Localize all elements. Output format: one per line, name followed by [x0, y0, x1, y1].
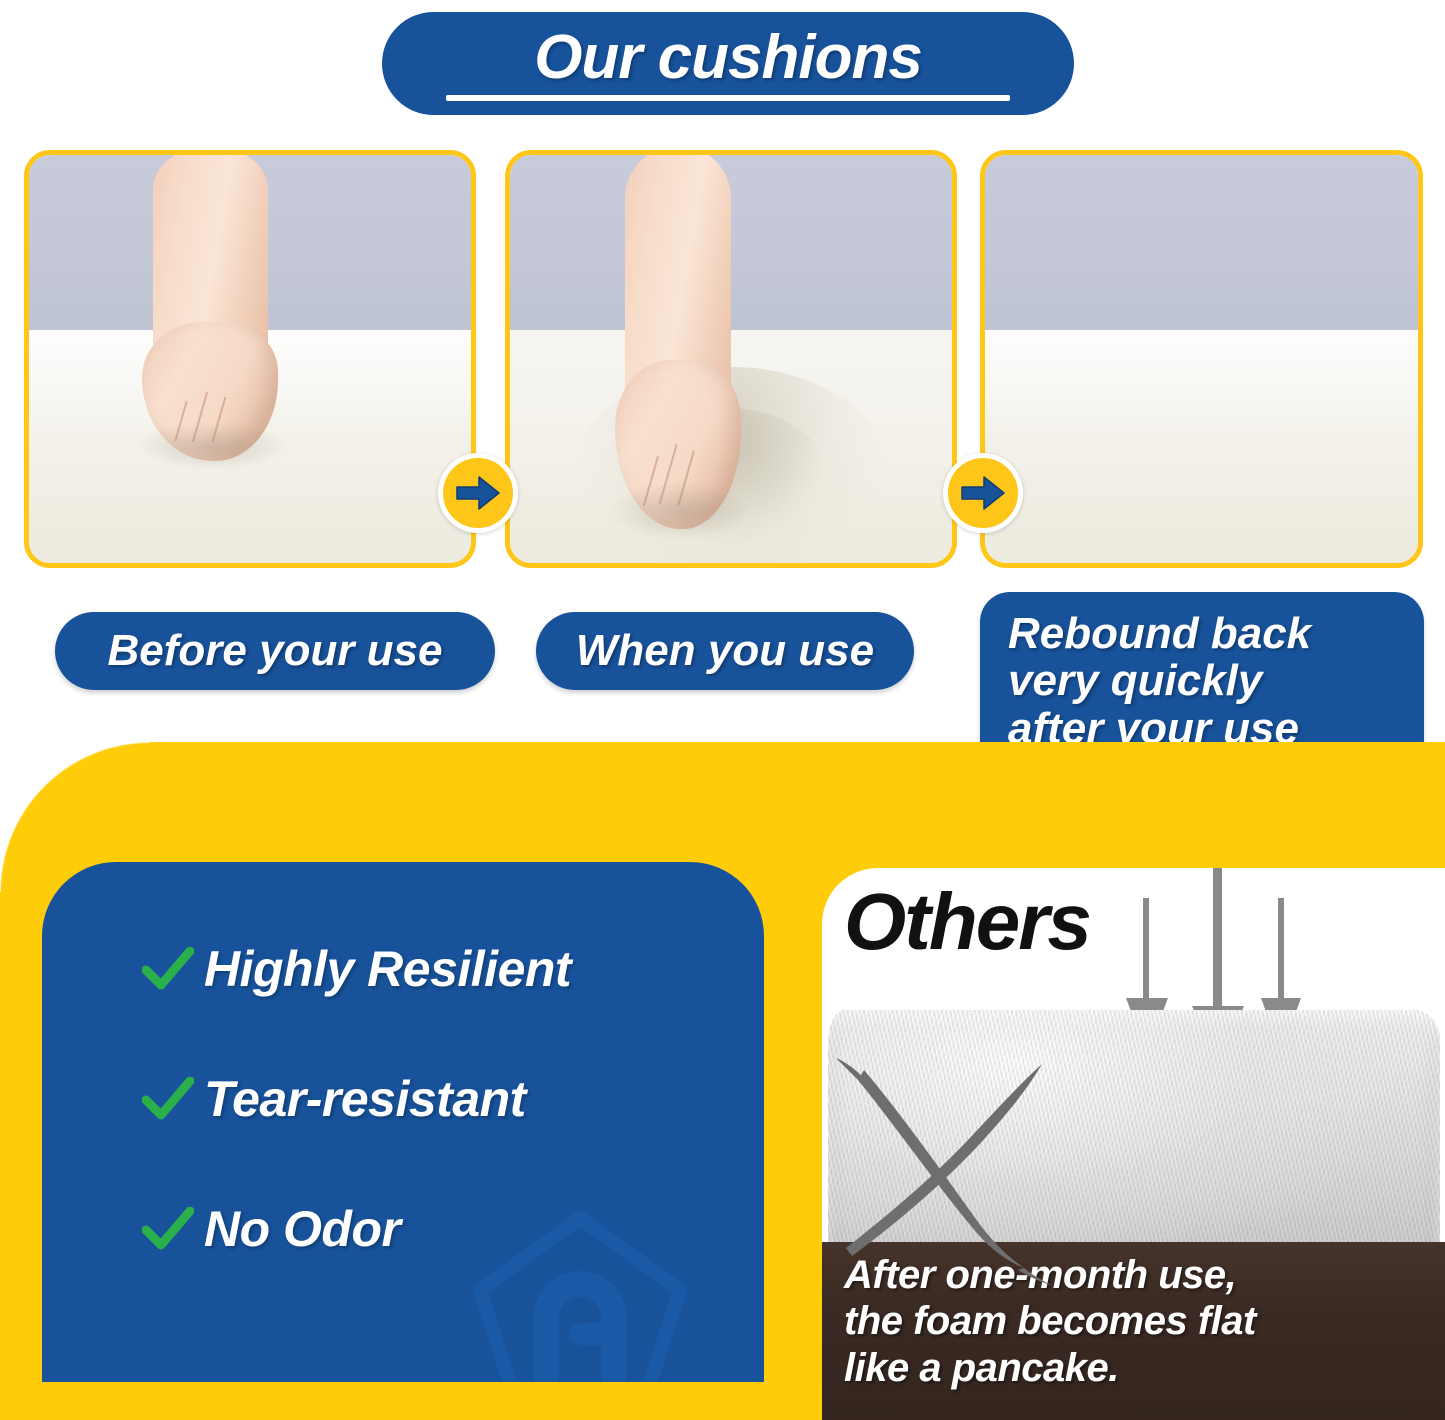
others-comparison-card: Others After o — [822, 868, 1445, 1420]
feature-item: No Odor — [142, 1200, 744, 1258]
feature-item: Tear-resistant — [142, 1070, 744, 1128]
caption-before: Before your use — [55, 612, 495, 690]
step-arrow-badge-1 — [438, 453, 518, 533]
check-icon — [142, 1207, 204, 1251]
scene-foam-sheen — [985, 330, 1418, 436]
caption-after-line-2: very quickly — [1008, 657, 1262, 705]
scene-fist-pressing — [510, 155, 952, 563]
title-underline — [446, 95, 1010, 101]
hand-fist-illustration — [153, 150, 268, 449]
photo-panel-before — [24, 150, 476, 568]
photo-panel-during — [505, 150, 957, 568]
step-arrow-badge-2 — [943, 453, 1023, 533]
scene-foam-rebounded — [985, 155, 1418, 563]
feature-label: No Odor — [204, 1200, 400, 1258]
others-caption-line-2: the foam becomes flat — [844, 1298, 1445, 1344]
hand-shadow — [137, 422, 289, 470]
hand-fist-illustration — [625, 150, 731, 514]
feature-item: Highly Resilient — [142, 940, 744, 998]
scene-fist-resting — [29, 155, 471, 563]
features-card: Highly Resilient Tear-resistant No Odor — [42, 862, 764, 1382]
feature-label: Tear-resistant — [204, 1070, 526, 1128]
scene-backdrop — [510, 155, 952, 330]
check-icon — [142, 947, 204, 991]
caption-during: When you use — [536, 612, 914, 690]
page-title: Our cushions — [534, 27, 922, 93]
arrow-right-icon — [960, 474, 1006, 512]
photo-panel-after — [980, 150, 1423, 568]
x-cross-brush-icon — [828, 1036, 1108, 1286]
others-caption-line-3: like a pancake. — [844, 1345, 1445, 1391]
comparison-photo-strip — [0, 150, 1445, 570]
infographic-page: Our cushions — [0, 0, 1445, 1420]
arrow-right-icon — [455, 474, 501, 512]
feature-label: Highly Resilient — [204, 940, 571, 998]
check-icon — [142, 1077, 204, 1121]
header-banner: Our cushions — [382, 12, 1074, 115]
others-title: Others — [844, 882, 1090, 962]
caption-after-line-1: Rebound back — [1008, 610, 1311, 658]
hand-shadow — [610, 481, 750, 540]
feature-list: Highly Resilient Tear-resistant No Odor — [142, 940, 744, 1258]
scene-backdrop — [985, 155, 1418, 330]
